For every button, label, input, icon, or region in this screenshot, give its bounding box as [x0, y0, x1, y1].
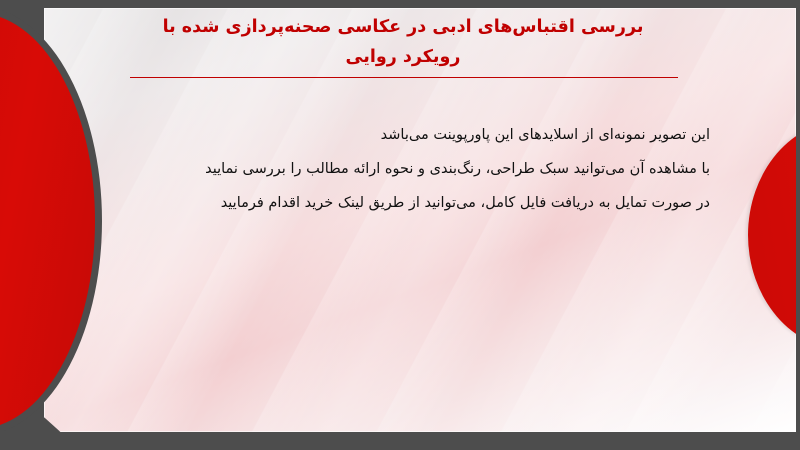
body-text-line-3: در صورت تمایل به دریافت فایل کامل، می‌تو…: [205, 186, 710, 220]
title-divider-rule: [130, 77, 678, 78]
slide-bottom-border: [0, 432, 800, 450]
slide-top-border: [0, 0, 800, 8]
slide-body-text: این تصویر نمونه‌ای از اسلایدهای این پاور…: [205, 118, 710, 220]
slide-title: بررسی اقتباس‌های ادبی در عکاسی صحنه‌پردا…: [120, 12, 686, 72]
body-text-line-2: با مشاهده آن می‌توانید سبک طراحی، رنگ‌بن…: [205, 152, 710, 186]
slide-title-line-1: بررسی اقتباس‌های ادبی در عکاسی صحنه‌پردا…: [120, 12, 686, 42]
slide-title-line-2: رویکرد روایی: [120, 42, 686, 72]
body-text-line-1: این تصویر نمونه‌ای از اسلایدهای این پاور…: [205, 118, 710, 152]
presentation-slide: بررسی اقتباس‌های ادبی در عکاسی صحنه‌پردا…: [0, 0, 800, 450]
slide-right-border: [796, 0, 800, 450]
